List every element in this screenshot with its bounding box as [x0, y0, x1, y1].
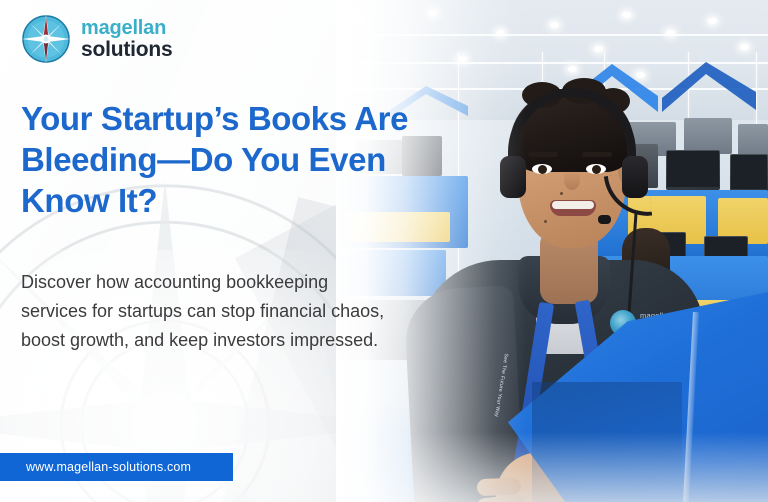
brand-name-line1: magellan	[81, 18, 173, 38]
brand-logo[interactable]: magellan solutions	[21, 14, 173, 64]
website-url-bar[interactable]: www.magellan-solutions.com	[0, 453, 233, 481]
promo-banner: magellan solutions See The Future Your W…	[0, 0, 768, 502]
ceiling-light	[622, 12, 631, 18]
photo-left-fade	[336, 0, 526, 502]
brand-name-line2: solutions	[81, 39, 173, 60]
headset-mic-tip-icon	[598, 215, 611, 224]
ceiling-light	[708, 18, 717, 24]
body-copy: Discover how accounting bookkeeping serv…	[21, 268, 393, 355]
headline: Your Startup’s Books Are Bleeding—Do You…	[21, 98, 451, 221]
website-url-text: www.magellan-solutions.com	[0, 460, 191, 474]
compass-rose-icon	[21, 14, 71, 64]
ceiling-light	[550, 22, 559, 28]
agent-mouth	[550, 200, 596, 216]
ceiling-light	[666, 30, 675, 36]
ceiling-light	[740, 44, 749, 50]
hero-photo: magellan solutions See The Future Your W…	[336, 0, 768, 502]
